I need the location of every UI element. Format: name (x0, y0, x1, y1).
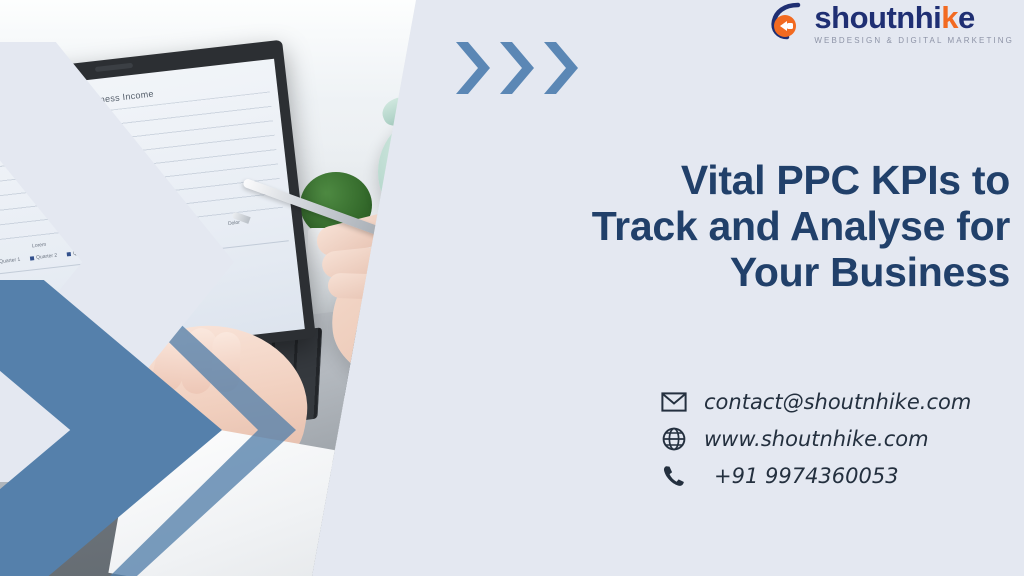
contact-row-email[interactable]: contact@shoutnhike.com (660, 390, 971, 414)
chevron-arrows-group (452, 38, 582, 98)
laptop-camera (95, 63, 133, 72)
contact-list: contact@shoutnhike.com www.shoutnhike.co… (660, 390, 971, 488)
promo-banner: Business Income LoremIpsumDolor Quarter … (0, 0, 1024, 576)
axis-tick-label: Dolor (228, 220, 241, 227)
bar (265, 211, 282, 213)
pen-finger-3 (328, 273, 403, 301)
bar (8, 240, 25, 242)
alarm-clock (378, 112, 498, 232)
logo-wordmark: shoutnhike (814, 2, 974, 33)
axis-tick-label: Lorem (32, 242, 47, 250)
clock-leg-right (466, 223, 478, 241)
page-title: Vital PPC KPIs to Track and Analyse for … (580, 158, 1010, 296)
brand-logo[interactable]: shoutnhike WEBDESIGN & DIGITAL MARKETING (768, 2, 1014, 45)
bar (45, 236, 62, 238)
chevron-right-icon (540, 38, 582, 98)
clock-hour-hand (437, 156, 459, 174)
logo-text-block: shoutnhike WEBDESIGN & DIGITAL MARKETING (814, 2, 1014, 45)
phone-icon (660, 464, 688, 488)
bar (209, 217, 226, 219)
desk-photo-print (382, 364, 482, 473)
contact-website[interactable]: www.shoutnhike.com (704, 427, 929, 451)
chevron-right-icon (452, 38, 494, 98)
bar (246, 213, 263, 215)
logo-word-part1: shoutnhi (814, 0, 941, 35)
megaphone-icon (768, 2, 810, 40)
contact-row-phone[interactable]: +91 9974360053 (660, 464, 971, 488)
contact-email[interactable]: contact@shoutnhike.com (704, 390, 971, 414)
envelope-icon (660, 392, 688, 412)
bar (26, 238, 43, 240)
clock-bell-right (464, 93, 505, 130)
clock-leg-left (396, 223, 408, 241)
desk-paper-primary (315, 357, 536, 549)
logo-tagline: WEBDESIGN & DIGITAL MARKETING (814, 36, 1014, 45)
clock-minute-hand (438, 172, 472, 192)
bar (0, 242, 6, 244)
legend-item: Quarter 1 (0, 257, 21, 266)
clock-face (392, 126, 484, 218)
legend-item: Quarter 2 (30, 253, 58, 262)
logo-word-accent: k (941, 0, 958, 35)
logo-word-part2: e (958, 0, 975, 35)
contact-row-website[interactable]: www.shoutnhike.com (660, 427, 971, 451)
contact-phone[interactable]: +91 9974360053 (704, 464, 899, 488)
globe-icon (660, 427, 688, 451)
chevron-right-icon (496, 38, 538, 98)
